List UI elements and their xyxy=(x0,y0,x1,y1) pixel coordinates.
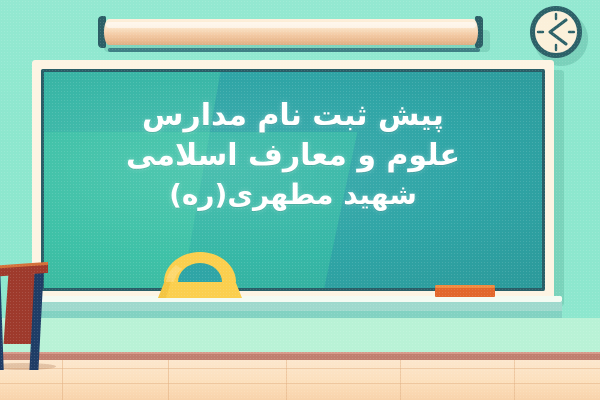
announcement-line-1: پیش ثبت نام مدارس xyxy=(44,96,542,136)
floor-plank-seam xyxy=(286,360,287,400)
chalkboard-eraser[interactable] xyxy=(435,287,495,297)
floor-glow xyxy=(0,360,600,400)
announcement-line-2: علوم و معارف اسلامی xyxy=(44,136,542,176)
roll-up-screen-rail xyxy=(108,48,480,52)
roll-up-screen[interactable] xyxy=(96,16,486,52)
floor-plank-seam xyxy=(514,360,515,400)
floor-plank-seam xyxy=(62,360,63,400)
chalkboard-surface[interactable]: پیش ثبت نام مدارس علوم و معارف اسلامی شه… xyxy=(44,72,542,288)
wall-clock xyxy=(530,6,588,64)
floor-plank-seam xyxy=(168,360,169,400)
protractor[interactable] xyxy=(152,252,248,298)
chalk-ledge-underside xyxy=(34,311,562,318)
floor-plank-line xyxy=(0,383,600,384)
baseboard-highlight xyxy=(0,352,600,354)
wall-lower xyxy=(0,318,600,356)
floor-plank-seam xyxy=(400,360,401,400)
clock-hands-icon xyxy=(530,6,582,58)
roll-up-screen-highlight xyxy=(106,22,476,28)
chalk-ledge-body xyxy=(26,302,562,311)
announcement-line-3: شهید مطهری(ره) xyxy=(44,176,542,214)
floor-plank-line xyxy=(0,368,600,369)
chalkboard-eraser-top xyxy=(435,285,495,288)
chalkboard-announcement: پیش ثبت نام مدارس علوم و معارف اسلامی شه… xyxy=(44,96,542,214)
classroom-scene: پیش ثبت نام مدارس علوم و معارف اسلامی شه… xyxy=(0,0,600,400)
